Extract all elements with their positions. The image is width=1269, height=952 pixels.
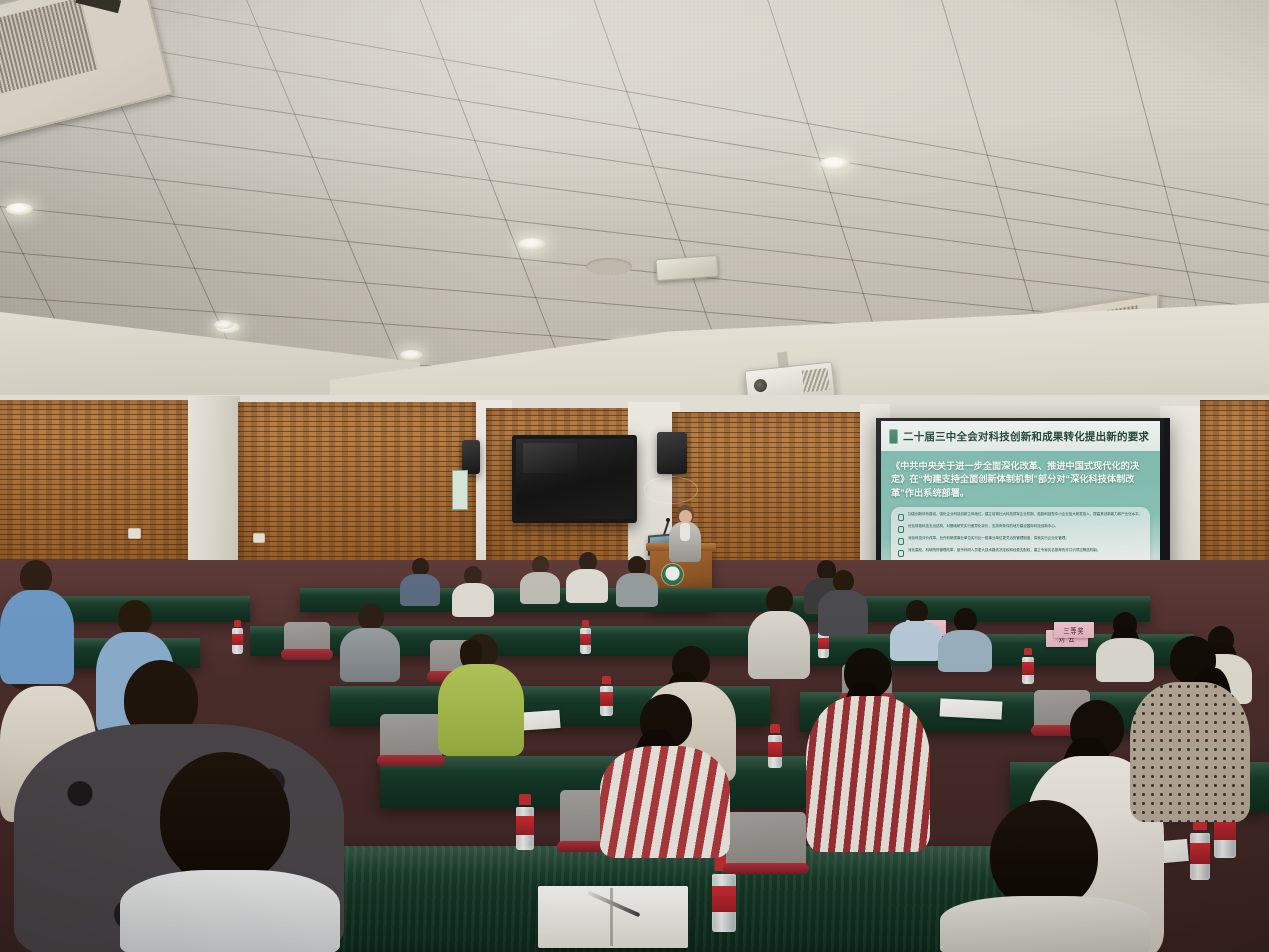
slide-bullet-item: 优化财政科技支出结构，对基础研究实行差异化评价，支持有条件的地方建设国际科技创新… bbox=[898, 524, 1143, 533]
bullet-text: 加强创新体系建设。强化企业科技创新主体地位，建立培育壮大科技领军企业机制，鼓励科… bbox=[908, 512, 1142, 521]
open-notebook bbox=[538, 886, 688, 948]
slide-bullet-item: 深化科技评价改革，允许科研类事业单位实行比一般事业单位更灵活的管理制度，探索实行… bbox=[898, 536, 1143, 545]
institution-emblem-icon bbox=[662, 564, 683, 585]
wall-speaker bbox=[657, 432, 687, 474]
presenter-shirt bbox=[680, 523, 690, 541]
bullet-text: 深化科技评价改革，允许科研类事业单位实行比一般事业单位更灵活的管理制度，探索实行… bbox=[908, 536, 1069, 545]
wall-mounted-tv bbox=[512, 435, 637, 523]
bullet-marker-icon bbox=[898, 514, 904, 521]
slide-bullet-item: 加强创新体系建设。强化企业科技创新主体地位，建立培育壮大科技领军企业机制，鼓励科… bbox=[898, 512, 1143, 521]
audience-chair bbox=[726, 812, 806, 870]
name-card-text: 三等奖 bbox=[1063, 625, 1084, 636]
audience-member bbox=[748, 586, 810, 676]
audience-member bbox=[940, 800, 1150, 952]
bullet-marker-icon bbox=[898, 526, 904, 533]
audience-member bbox=[818, 570, 868, 632]
audience-member bbox=[340, 604, 400, 680]
ceiling-downlight bbox=[6, 203, 33, 215]
name-card: 三等奖 bbox=[1054, 622, 1094, 638]
audience-member bbox=[938, 608, 992, 670]
ceiling-speaker-box bbox=[655, 255, 718, 281]
wall-outlet bbox=[128, 528, 141, 539]
slide-title-text: 二十届三中全会对科技创新和成果转化提出新的要求 bbox=[903, 429, 1149, 444]
bullet-marker-icon bbox=[898, 550, 904, 557]
wall-speaker bbox=[462, 440, 480, 474]
audience-member bbox=[566, 552, 608, 600]
audience-member bbox=[120, 752, 340, 952]
audience-member bbox=[616, 556, 658, 604]
audience-member bbox=[1130, 636, 1250, 816]
wall-notice-sign bbox=[452, 470, 468, 510]
ceiling-downlight bbox=[820, 157, 850, 170]
bullet-text: 深化高校、科研院所管理改革，赋予科研人员更大技术路线决定权和经费支配权，建立专家… bbox=[908, 548, 1100, 557]
ceiling-downlight bbox=[400, 350, 423, 360]
presenter bbox=[668, 505, 702, 561]
wall-outlet bbox=[253, 533, 265, 543]
water-bottle bbox=[768, 724, 782, 768]
ceiling-downlight bbox=[214, 320, 234, 329]
audience-member bbox=[520, 556, 560, 602]
audience-member bbox=[400, 558, 440, 604]
projector-lens-icon bbox=[753, 378, 767, 392]
desk-document bbox=[940, 698, 1003, 719]
ceiling-downlight bbox=[518, 238, 546, 250]
slide-lead-text: 《中共中央关于进一步全面深化改革、推进中国式现代化的决定》在“构建支持全面创新体… bbox=[891, 460, 1150, 500]
slide-badge-icon bbox=[889, 429, 898, 444]
conference-room-photo: 二十届三中全会对科技创新和成果转化提出新的要求 《中共中央关于进一步全面深化改革… bbox=[0, 0, 1269, 952]
notebook-spine bbox=[610, 888, 613, 946]
bullet-marker-icon bbox=[898, 538, 904, 545]
water-bottle bbox=[516, 794, 534, 850]
ceiling-speaker-plate-icon bbox=[586, 258, 632, 275]
water-bottle bbox=[580, 620, 591, 654]
water-bottle bbox=[1190, 818, 1210, 880]
audience-chair bbox=[284, 622, 330, 656]
slide-header: 二十届三中全会对科技创新和成果转化提出新的要求 bbox=[881, 421, 1160, 451]
audience-member bbox=[438, 634, 524, 754]
audience-member bbox=[600, 694, 730, 854]
audience-member bbox=[806, 648, 930, 848]
water-bottle bbox=[1022, 648, 1034, 684]
audience-chair bbox=[380, 714, 442, 762]
wall-fan-icon bbox=[644, 476, 698, 504]
slide-bullet-item: 深化高校、科研院所管理改革，赋予科研人员更大技术路线决定权和经费支配权，建立专家… bbox=[898, 548, 1143, 557]
audience-member bbox=[452, 566, 494, 614]
projector-vent-icon bbox=[802, 368, 830, 393]
bullet-text: 优化财政科技支出结构，对基础研究实行差异化评价，支持有条件的地方建设国际科技创新… bbox=[908, 524, 1058, 533]
water-bottle bbox=[232, 620, 243, 654]
